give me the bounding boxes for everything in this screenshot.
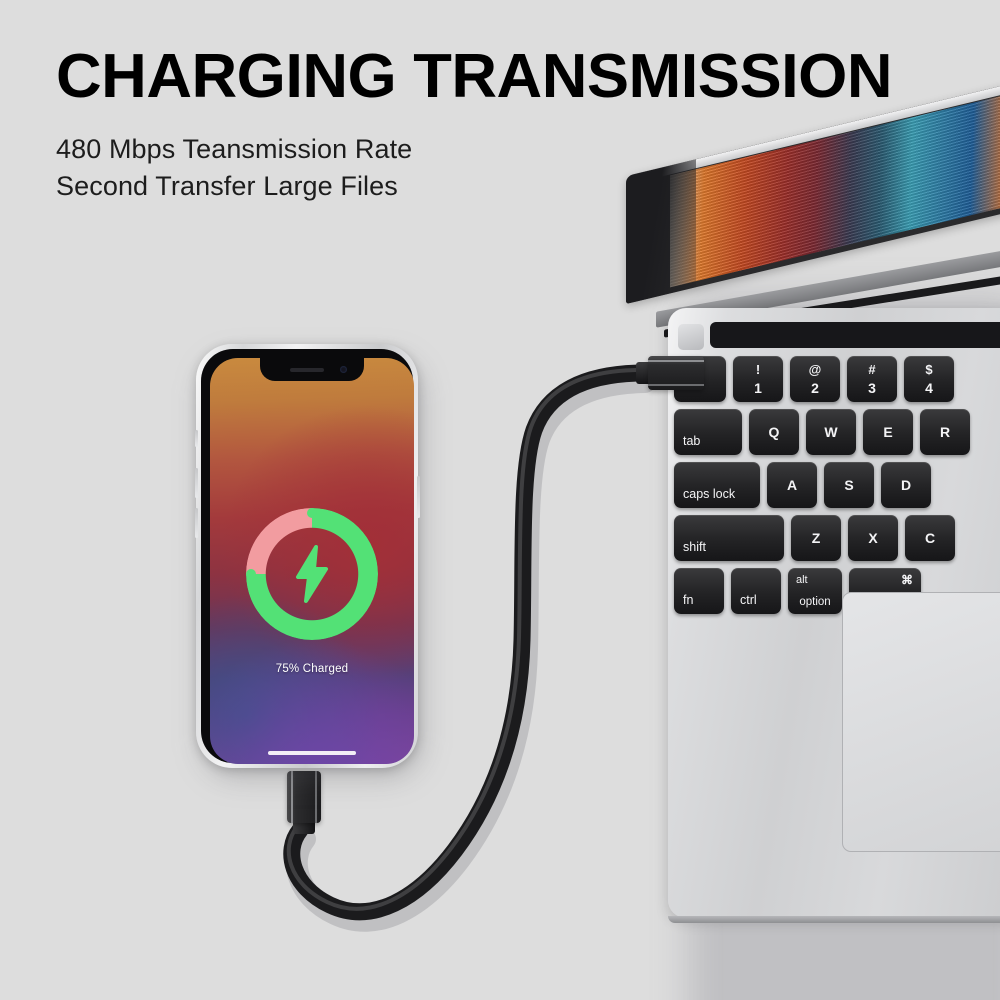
key-symbol-glyph: $ <box>904 362 954 377</box>
key-digit-glyph: 4 <box>904 380 954 396</box>
laptop-device: ~`!1@2#3$4tabQWERcaps lockASDshiftZXCfnc… <box>596 176 1000 916</box>
connector-band-top <box>648 360 704 362</box>
key-s[interactable]: S <box>824 462 874 508</box>
key-shift[interactable]: shift <box>674 515 784 561</box>
phone-notch <box>260 358 364 381</box>
key-label: Q <box>749 424 799 440</box>
phone-power-button[interactable] <box>417 476 420 518</box>
page-title: CHARGING TRANSMISSION <box>56 44 933 109</box>
key-z[interactable]: Z <box>791 515 841 561</box>
key-label: D <box>881 477 931 493</box>
key-tab[interactable]: tab <box>674 409 742 455</box>
key-a[interactable]: A <box>767 462 817 508</box>
key-label: W <box>806 424 856 440</box>
key-e[interactable]: E <box>863 409 913 455</box>
key-digit-glyph: 1 <box>733 380 783 396</box>
home-indicator[interactable] <box>268 751 356 755</box>
key-label: fn <box>683 593 693 607</box>
phone-volume-down-button[interactable] <box>195 508 198 538</box>
key-label: C <box>905 530 955 546</box>
key-digit-glyph: 3 <box>847 380 897 396</box>
connector-band-left <box>291 771 293 823</box>
laptop-base-edge <box>668 916 1000 923</box>
key-option[interactable]: altoption <box>788 568 842 614</box>
key-x[interactable]: X <box>848 515 898 561</box>
charge-ring-cap-end <box>246 569 256 579</box>
key-symbol-glyph: # <box>847 362 897 377</box>
key-r[interactable]: R <box>920 409 970 455</box>
touch-id-button[interactable] <box>678 324 704 350</box>
phone-mute-switch[interactable] <box>195 430 198 447</box>
key-4[interactable]: $4 <box>904 356 954 402</box>
key-label: shift <box>683 540 706 554</box>
key-q[interactable]: Q <box>749 409 799 455</box>
trackpad[interactable] <box>842 592 1000 852</box>
touch-bar[interactable] <box>710 322 1000 348</box>
key-fn[interactable]: fn <box>674 568 724 614</box>
keyboard-row: tabQWER <box>674 409 1000 455</box>
laptop-screen-shade <box>626 159 696 304</box>
earpiece-speaker-icon <box>290 368 324 372</box>
key-label: S <box>824 477 874 493</box>
product-marketing-image: CHARGING TRANSMISSION 480 Mbps Teansmiss… <box>0 0 1000 1000</box>
key-label: A <box>767 477 817 493</box>
key-2[interactable]: @2 <box>790 356 840 402</box>
laptop-keyboard[interactable]: ~`!1@2#3$4tabQWERcaps lockASDshiftZXCfnc… <box>674 356 1000 621</box>
key-label: caps lock <box>683 487 735 501</box>
key-symbol-glyph: ! <box>733 362 783 377</box>
key-3[interactable]: #3 <box>847 356 897 402</box>
key-symbol-glyph: @ <box>790 362 840 377</box>
connector-band-bottom <box>648 384 704 386</box>
keyboard-row: ~`!1@2#3$4 <box>674 356 1000 402</box>
phone-frame: 75% Charged <box>196 344 418 768</box>
key-label: R <box>920 424 970 440</box>
key-digit-glyph: 2 <box>790 380 840 396</box>
usb-c-connector-phone <box>287 771 321 823</box>
key-label: E <box>863 424 913 440</box>
phone-screen: 75% Charged <box>210 358 414 764</box>
key-label: option <box>788 596 842 608</box>
key-secondary-glyph: alt <box>796 574 808 586</box>
key-caps-lock[interactable]: caps lock <box>674 462 760 508</box>
usb-c-connector-laptop <box>648 356 704 390</box>
front-camera-icon <box>340 366 347 373</box>
keyboard-row: caps lockASD <box>674 462 1000 508</box>
key-label: ctrl <box>740 593 757 607</box>
key-1[interactable]: !1 <box>733 356 783 402</box>
key-c[interactable]: C <box>905 515 955 561</box>
key-secondary-glyph: ⌘ <box>901 573 913 587</box>
key-label: Z <box>791 530 841 546</box>
key-label: tab <box>683 434 700 448</box>
phone-device: 75% Charged <box>196 344 424 774</box>
key-label: X <box>848 530 898 546</box>
key-w[interactable]: W <box>806 409 856 455</box>
phone-bezel: 75% Charged <box>201 349 413 763</box>
key-d[interactable]: D <box>881 462 931 508</box>
charge-status-label: 75% Charged <box>210 663 414 675</box>
key-ctrl[interactable]: ctrl <box>731 568 781 614</box>
charge-ring-cap-start <box>307 508 317 518</box>
lightning-bolt-icon <box>292 545 332 603</box>
keyboard-row: shiftZXC <box>674 515 1000 561</box>
phone-volume-up-button[interactable] <box>195 468 198 498</box>
connector-band-right <box>315 771 317 823</box>
charging-progress-ring <box>246 508 378 640</box>
